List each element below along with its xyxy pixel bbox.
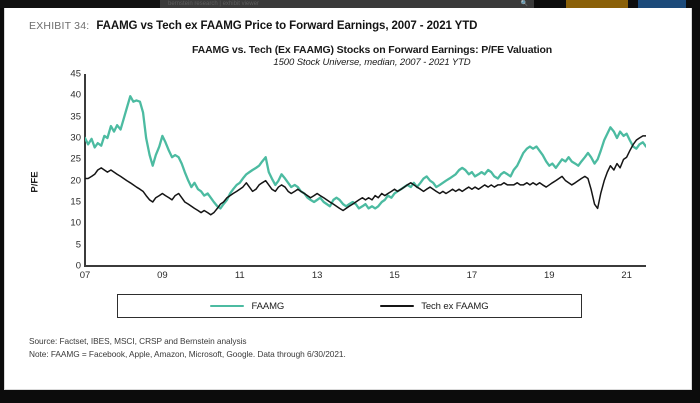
plot-wrapper: P/FE 051015202530354045 0709111315171921 [29, 74, 669, 289]
x-tick-label: 07 [80, 270, 91, 281]
exhibit-title: FAAMG vs Tech ex FAAMG Price to Forward … [96, 20, 477, 32]
chart-legend: FAAMGTech ex FAAMG [117, 294, 582, 318]
x-tick-label: 19 [544, 270, 555, 281]
y-axis-ticks: 051015202530354045 [53, 74, 81, 266]
plot-area [85, 74, 646, 266]
y-tick-label: 5 [76, 239, 81, 250]
legend-label: FAAMG [251, 301, 284, 312]
y-axis-label: P/FE [30, 171, 41, 192]
app-chrome-strip: bernstein research | exhibit viewer 🔍 [0, 0, 700, 8]
footnotes: Source: Factset, IBES, MSCI, CRSP and Be… [29, 335, 346, 361]
toolbar-button-primary[interactable] [566, 0, 628, 8]
legend-swatch [210, 305, 244, 308]
legend-swatch [380, 305, 414, 307]
address-bar[interactable]: bernstein research | exhibit viewer 🔍 [160, 0, 534, 8]
chrome-gap [534, 0, 566, 8]
x-axis-ticks: 0709111315171921 [85, 270, 646, 286]
x-tick-label: 17 [467, 270, 478, 281]
exhibit-heading: EXHIBIT 34: FAAMG vs Tech ex FAAMG Price… [29, 20, 477, 32]
y-tick-label: 45 [70, 69, 81, 80]
x-tick-label: 21 [621, 270, 632, 281]
chart-subtitle: 1500 Stock Universe, median, 2007 - 2021… [29, 57, 669, 68]
chart-figure: FAAMG vs. Tech (Ex FAAMG) Stocks on Forw… [29, 44, 669, 334]
search-icon[interactable]: 🔍 [521, 0, 528, 8]
y-tick-label: 30 [70, 133, 81, 144]
y-tick-label: 20 [70, 175, 81, 186]
data-note: Note: FAAMG = Facebook, Apple, Amazon, M… [29, 348, 346, 361]
address-bar-text: bernstein research | exhibit viewer [168, 0, 259, 8]
legend-label: Tech ex FAAMG [421, 301, 488, 312]
y-tick-label: 35 [70, 111, 81, 122]
y-tick-label: 40 [70, 90, 81, 101]
y-tick-label: 15 [70, 197, 81, 208]
x-tick-label: 15 [389, 270, 400, 281]
chart-title: FAAMG vs. Tech (Ex FAAMG) Stocks on Forw… [29, 44, 669, 56]
screenshot-root: bernstein research | exhibit viewer 🔍 EX… [0, 0, 700, 403]
x-tick-label: 11 [235, 270, 245, 281]
document-page: EXHIBIT 34: FAAMG vs Tech ex FAAMG Price… [4, 8, 692, 390]
source-note: Source: Factset, IBES, MSCI, CRSP and Be… [29, 335, 346, 348]
y-tick-label: 25 [70, 154, 81, 165]
legend-item-faamg[interactable]: FAAMG [210, 301, 284, 312]
legend-item-tech-ex-faamg[interactable]: Tech ex FAAMG [380, 301, 488, 312]
x-tick-label: 13 [312, 270, 323, 281]
series-line-faamg [85, 96, 646, 208]
exhibit-label: EXHIBIT 34: [29, 20, 89, 32]
toolbar-button-secondary[interactable] [638, 0, 686, 8]
chrome-right-region [686, 0, 700, 8]
chrome-left-region [0, 0, 160, 8]
y-tick-label: 10 [70, 218, 81, 229]
series-lines [85, 74, 646, 266]
series-line-tech-ex-faamg [85, 136, 646, 215]
x-tick-label: 09 [157, 270, 168, 281]
chrome-gap-2 [628, 0, 638, 8]
